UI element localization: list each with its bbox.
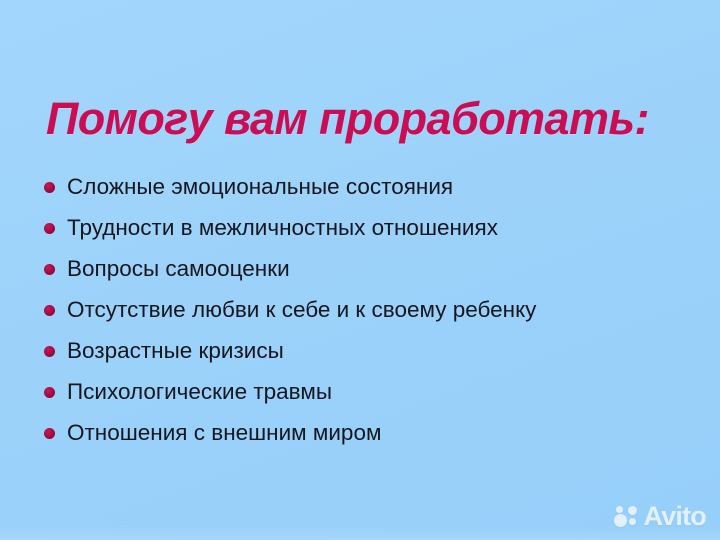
list-item: Психологические травмы bbox=[44, 371, 700, 412]
bullet-dot-icon bbox=[44, 346, 55, 357]
avito-watermark: Avito bbox=[614, 503, 707, 530]
list-item-label: Сложные эмоциональные состояния bbox=[67, 174, 453, 200]
bullet-dot-icon bbox=[44, 182, 55, 193]
page-title: Помогу вам проработать: bbox=[46, 93, 696, 145]
bullet-dot-icon bbox=[44, 223, 55, 234]
benefits-list: Сложные эмоциональные состояния Трудност… bbox=[44, 166, 700, 453]
list-item-label: Психологические травмы bbox=[67, 379, 332, 405]
list-item: Сложные эмоциональные состояния bbox=[44, 166, 700, 207]
list-item: Отсутствие любви к себе и к своему ребен… bbox=[44, 289, 700, 330]
bullet-dot-icon bbox=[44, 305, 55, 316]
bullet-dot-icon bbox=[44, 428, 55, 439]
list-item-label: Отношения с внешним миром bbox=[67, 420, 381, 446]
promo-slide: Помогу вам проработать: Сложные эмоциона… bbox=[0, 0, 720, 540]
list-item-label: Вопросы самооценки bbox=[67, 256, 290, 282]
avito-brand-label: Avito bbox=[644, 503, 707, 530]
bullet-dot-icon bbox=[44, 264, 55, 275]
avito-dots-logo-icon bbox=[614, 506, 639, 528]
bullet-dot-icon bbox=[44, 387, 55, 398]
list-item: Вопросы самооценки bbox=[44, 248, 700, 289]
list-item: Отношения с внешним миром bbox=[44, 412, 700, 453]
list-item: Возрастные кризисы bbox=[44, 330, 700, 371]
list-item-label: Трудности в межличностных отношениях bbox=[67, 215, 498, 241]
list-item-label: Возрастные кризисы bbox=[67, 338, 284, 364]
list-item: Трудности в межличностных отношениях bbox=[44, 207, 700, 248]
list-item-label: Отсутствие любви к себе и к своему ребен… bbox=[67, 297, 536, 323]
